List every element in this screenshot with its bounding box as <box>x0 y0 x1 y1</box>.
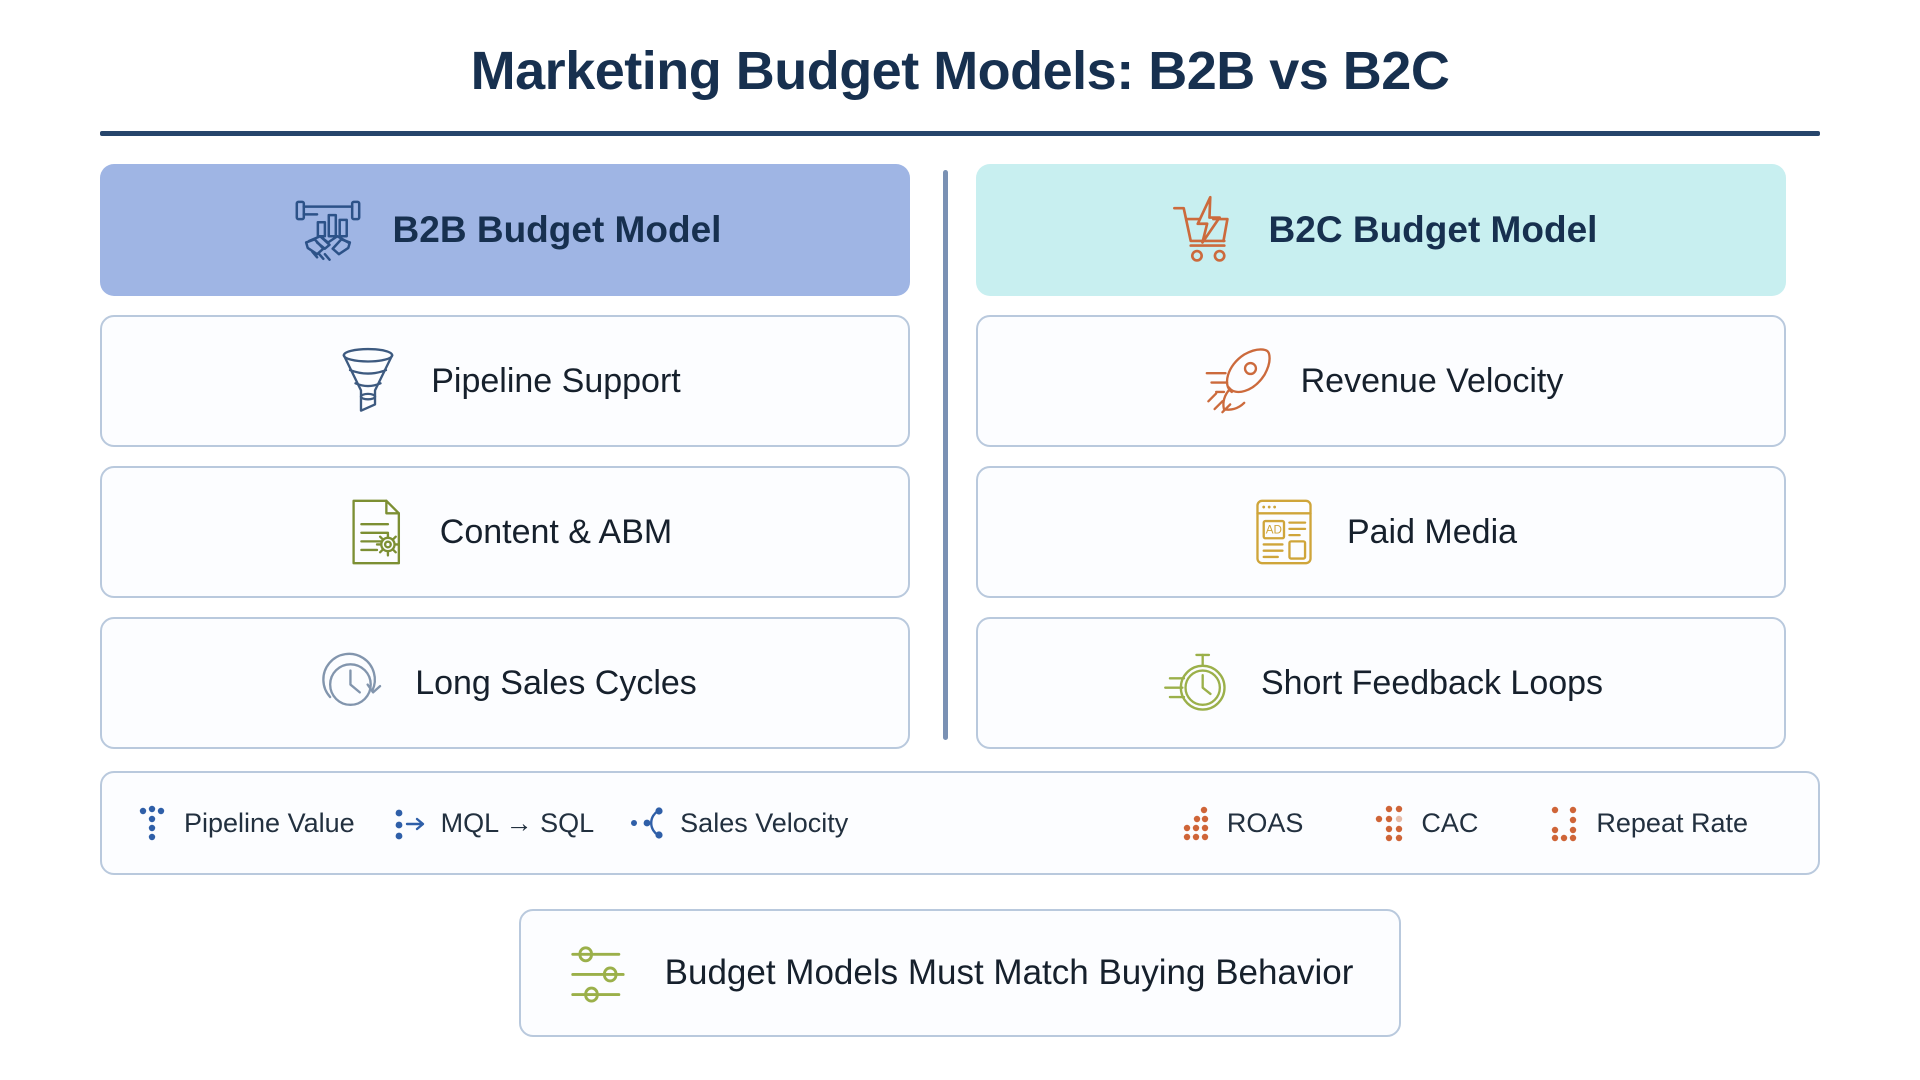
footer-section: Budget Models Must Match Buying Behavior <box>100 909 1820 1037</box>
handshake-bar-chart-icon <box>289 191 367 269</box>
footer-card[interactable]: Budget Models Must Match Buying Behavior <box>519 909 1402 1037</box>
rocket-icon <box>1199 342 1277 420</box>
metric-pipeline-value[interactable]: Pipeline Value <box>132 803 355 843</box>
dot-cluster-orange-icon <box>1175 803 1215 843</box>
footer-label: Budget Models Must Match Buying Behavior <box>665 953 1354 993</box>
document-gear-icon <box>338 493 416 571</box>
b2b-column: B2B Budget Model Pipeline Support <box>100 164 910 749</box>
card-short-feedback-loops[interactable]: Short Feedback Loops <box>976 617 1786 749</box>
metric-cac[interactable]: CAC <box>1369 803 1478 843</box>
metrics-left-group: Pipeline Value MQL → SQL <box>132 803 848 843</box>
card-label: Content & ABM <box>440 513 672 552</box>
dot-arrow-blue-icon <box>389 803 429 843</box>
dot-grid-orange-icon <box>1369 803 1409 843</box>
metric-label: MQL → SQL <box>441 808 595 839</box>
metric-label: Pipeline Value <box>184 808 355 839</box>
metric-sales-velocity[interactable]: Sales Velocity <box>628 803 848 843</box>
metric-mql-sql[interactable]: MQL → SQL <box>389 803 595 843</box>
comparison-columns: B2B Budget Model Pipeline Support <box>100 164 1820 749</box>
metric-roas[interactable]: ROAS <box>1175 803 1304 843</box>
b2c-header-label: B2C Budget Model <box>1269 209 1598 251</box>
shopping-cart-lightning-icon <box>1165 191 1243 269</box>
card-label: Pipeline Support <box>431 362 681 401</box>
metric-label: CAC <box>1421 808 1478 839</box>
card-label: Revenue Velocity <box>1301 362 1564 401</box>
b2b-header-label: B2B Budget Model <box>393 209 722 251</box>
clock-cycle-icon <box>313 644 391 722</box>
metric-label: Sales Velocity <box>680 808 848 839</box>
b2b-header-card[interactable]: B2B Budget Model <box>100 164 910 296</box>
title-divider <box>100 131 1820 136</box>
card-paid-media[interactable]: AD Paid Media <box>976 466 1786 598</box>
b2c-column: B2C Budget Model Revenue Velocity <box>976 164 1786 749</box>
stopwatch-icon <box>1159 644 1237 722</box>
card-label: Short Feedback Loops <box>1261 664 1603 703</box>
metric-repeat-rate[interactable]: Repeat Rate <box>1544 803 1748 843</box>
dot-node-blue-icon <box>628 803 668 843</box>
metrics-legend: Pipeline Value MQL → SQL <box>100 771 1820 875</box>
infographic-page: Marketing Budget Models: B2B vs B2C <box>0 0 1920 1080</box>
card-content-abm[interactable]: Content & ABM <box>100 466 910 598</box>
svg-text:AD: AD <box>1266 524 1282 537</box>
dot-pair-orange-icon <box>1544 803 1584 843</box>
ad-browser-icon: AD <box>1245 493 1323 571</box>
b2c-header-card[interactable]: B2C Budget Model <box>976 164 1786 296</box>
sliders-icon <box>567 937 639 1009</box>
page-title: Marketing Budget Models: B2B vs B2C <box>100 42 1820 101</box>
metric-label: Repeat Rate <box>1596 808 1748 839</box>
card-pipeline-support[interactable]: Pipeline Support <box>100 315 910 447</box>
card-label: Paid Media <box>1347 513 1517 552</box>
metrics-right-group: ROAS CAC <box>1175 803 1788 843</box>
metric-label: ROAS <box>1227 808 1304 839</box>
funnel-icon <box>329 342 407 420</box>
dot-cluster-blue-icon <box>132 803 172 843</box>
card-revenue-velocity[interactable]: Revenue Velocity <box>976 315 1786 447</box>
card-long-sales-cycles[interactable]: Long Sales Cycles <box>100 617 910 749</box>
card-label: Long Sales Cycles <box>415 664 697 703</box>
column-divider <box>943 170 948 740</box>
